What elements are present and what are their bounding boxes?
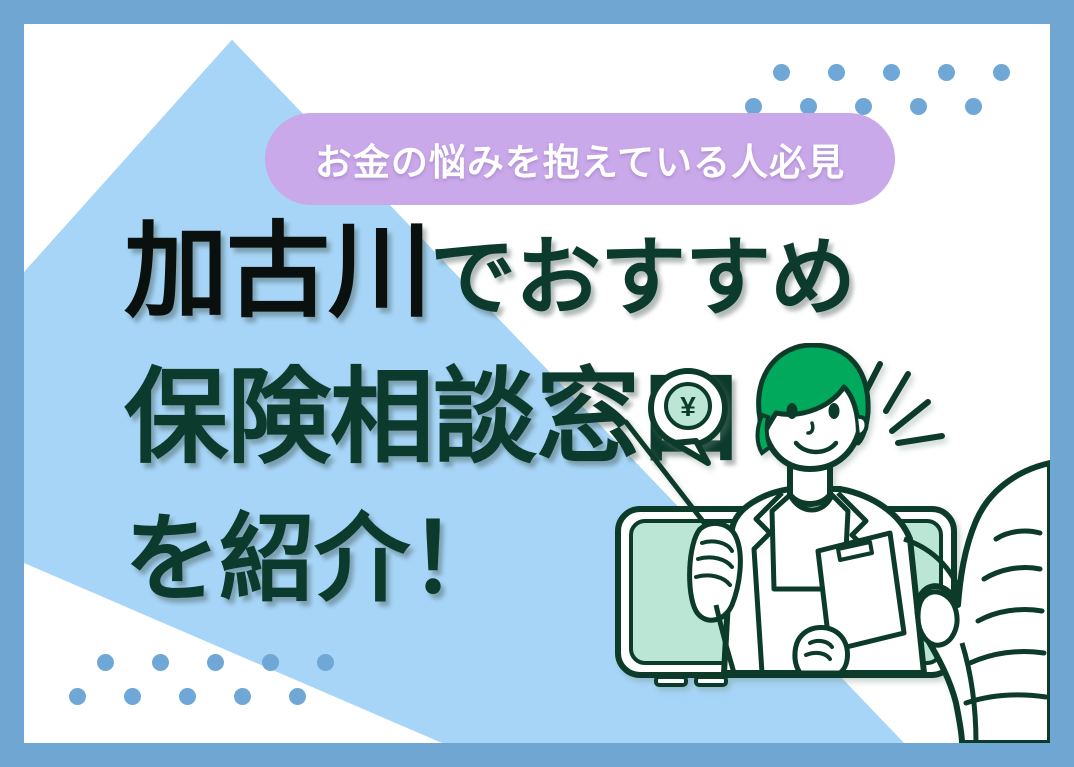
advisor-resting-hand <box>795 628 848 674</box>
dot <box>97 654 114 671</box>
dot <box>883 64 900 81</box>
dot <box>855 98 872 115</box>
headline-line-1-suffix: でおすすめ <box>430 230 855 326</box>
headline-line-3-text: を紹介！ <box>124 506 504 613</box>
headline-place-name: 加古川 <box>124 214 430 330</box>
thumb <box>918 592 957 645</box>
dot <box>69 688 86 705</box>
tagline-badge-label: お金の悩みを抱えている人必見 <box>315 132 845 186</box>
yen-speech-bubble: ¥ <box>651 371 725 463</box>
dot <box>289 688 306 705</box>
dot <box>317 654 334 671</box>
advisor-illustration: ¥ <box>604 343 1050 743</box>
holding-hand <box>917 463 1050 743</box>
dot <box>207 654 224 671</box>
dot <box>124 688 141 705</box>
dot <box>965 98 982 115</box>
dot <box>993 64 1010 81</box>
eye-left <box>787 403 798 419</box>
dot <box>828 64 845 81</box>
banner-inner-field: お金の悩みを抱えている人必見 加古川でおすすめ 保険相談窓口 を紹介！ <box>24 24 1050 743</box>
dot <box>234 688 251 705</box>
dot <box>938 64 955 81</box>
eye-right <box>829 403 840 419</box>
emphasis-lines <box>860 364 942 443</box>
dot <box>773 64 790 81</box>
headline-line-1: 加古川でおすすめ <box>124 220 944 324</box>
dot <box>179 688 196 705</box>
dot <box>910 98 927 115</box>
dot <box>262 654 279 671</box>
tagline-badge: お金の悩みを抱えている人必見 <box>265 113 895 205</box>
yen-symbol: ¥ <box>680 391 696 422</box>
banner-root: お金の悩みを抱えている人必見 加古川でおすすめ 保険相談窓口 を紹介！ <box>0 0 1074 767</box>
decorative-dots-top-right <box>745 64 1010 115</box>
decorative-dots-bottom-left <box>69 654 334 705</box>
dot <box>152 654 169 671</box>
